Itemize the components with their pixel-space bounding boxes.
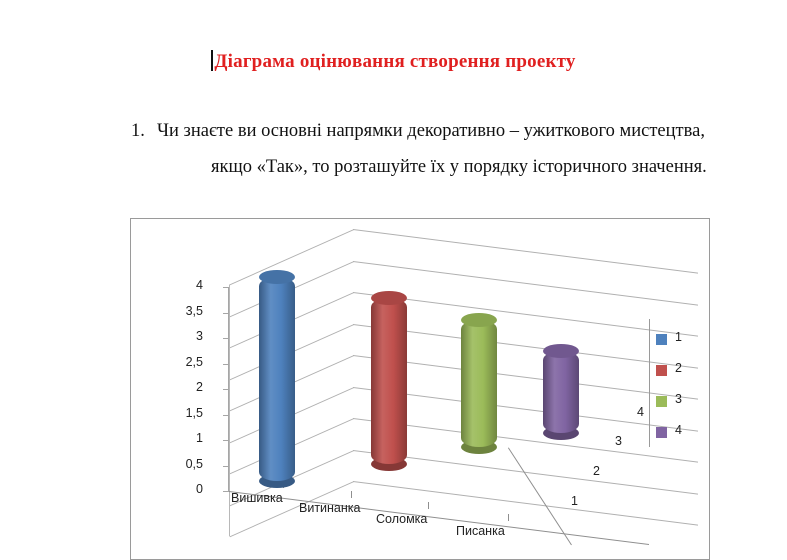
category-axis-label: Вишивка (231, 491, 283, 505)
page-title-text: Діаграма оцінювання створення проекту (214, 51, 575, 72)
bar-body (259, 277, 295, 481)
chart-bar[interactable] (543, 351, 579, 433)
value-axis-tick (223, 338, 229, 339)
value-axis-tick (223, 313, 229, 314)
value-axis-tick-label: 2 (155, 380, 203, 394)
bar-body (371, 298, 407, 464)
bar-body (461, 320, 497, 448)
legend-divider (649, 319, 650, 447)
category-axis-tick (508, 514, 509, 521)
value-axis-tick-label: 4 (155, 278, 203, 292)
category-axis-label: Соломка (376, 512, 427, 526)
legend-swatch (656, 427, 667, 438)
value-axis-tick (223, 389, 229, 390)
value-axis-tick (223, 415, 229, 416)
category-axis-tick (351, 491, 352, 498)
legend-item[interactable]: 4 (656, 424, 708, 455)
bar-body (543, 351, 579, 433)
question-number: 1. (131, 113, 145, 149)
legend-label: 4 (675, 423, 682, 437)
legend-label: 2 (675, 361, 682, 375)
value-axis-tick (223, 364, 229, 365)
legend-swatch (656, 396, 667, 407)
legend-item[interactable]: 2 (656, 362, 708, 393)
page-title: Діаграма оцінювання створення проекту (0, 50, 787, 73)
category-axis-label: Писанка (456, 524, 505, 538)
chart-bar[interactable] (461, 320, 497, 448)
value-axis-tick-label: 0 (155, 482, 203, 496)
depth-axis-label: 4 (637, 405, 644, 419)
value-axis-tick-label: 0,5 (155, 457, 203, 471)
chart-bar[interactable] (259, 277, 295, 481)
chart-plot-area: 43,532,521,510,50 ВишивкаВитинанкаСоломк… (131, 219, 709, 559)
value-axis-labels: 43,532,521,510,50 (131, 219, 709, 559)
value-axis-tick (223, 287, 229, 288)
question-line-2: якщо «Так», то розташуйте їх у порядку і… (211, 149, 707, 185)
category-axis-tick (428, 502, 429, 509)
legend-swatch (656, 365, 667, 376)
value-axis-tick (223, 440, 229, 441)
chart-legend[interactable]: 1234 (656, 331, 708, 455)
legend-swatch (656, 334, 667, 345)
value-axis-tick-label: 2,5 (155, 355, 203, 369)
legend-item[interactable]: 1 (656, 331, 708, 362)
depth-axis-label: 3 (615, 434, 622, 448)
chart-bar[interactable] (371, 298, 407, 464)
depth-axis-label: 2 (593, 464, 600, 478)
value-axis-tick-label: 1 (155, 431, 203, 445)
value-axis-tick-label: 3,5 (155, 304, 203, 318)
bar-top-cap (461, 313, 497, 327)
value-axis-tick-label: 1,5 (155, 406, 203, 420)
legend-label: 3 (675, 392, 682, 406)
depth-axis-label: 1 (571, 494, 578, 508)
document-page: Діаграма оцінювання створення проекту 1.… (0, 0, 787, 552)
value-axis-tick-label: 3 (155, 329, 203, 343)
value-axis-tick (223, 466, 229, 467)
bar-top-cap (259, 270, 295, 284)
category-axis-label: Витинанка (299, 501, 360, 515)
legend-label: 1 (675, 330, 682, 344)
chart-container[interactable]: 43,532,521,510,50 ВишивкаВитинанкаСоломк… (130, 218, 710, 560)
legend-item[interactable]: 3 (656, 393, 708, 424)
question-line-1: Чи знаєте ви основні напрямки декоративн… (157, 113, 705, 149)
